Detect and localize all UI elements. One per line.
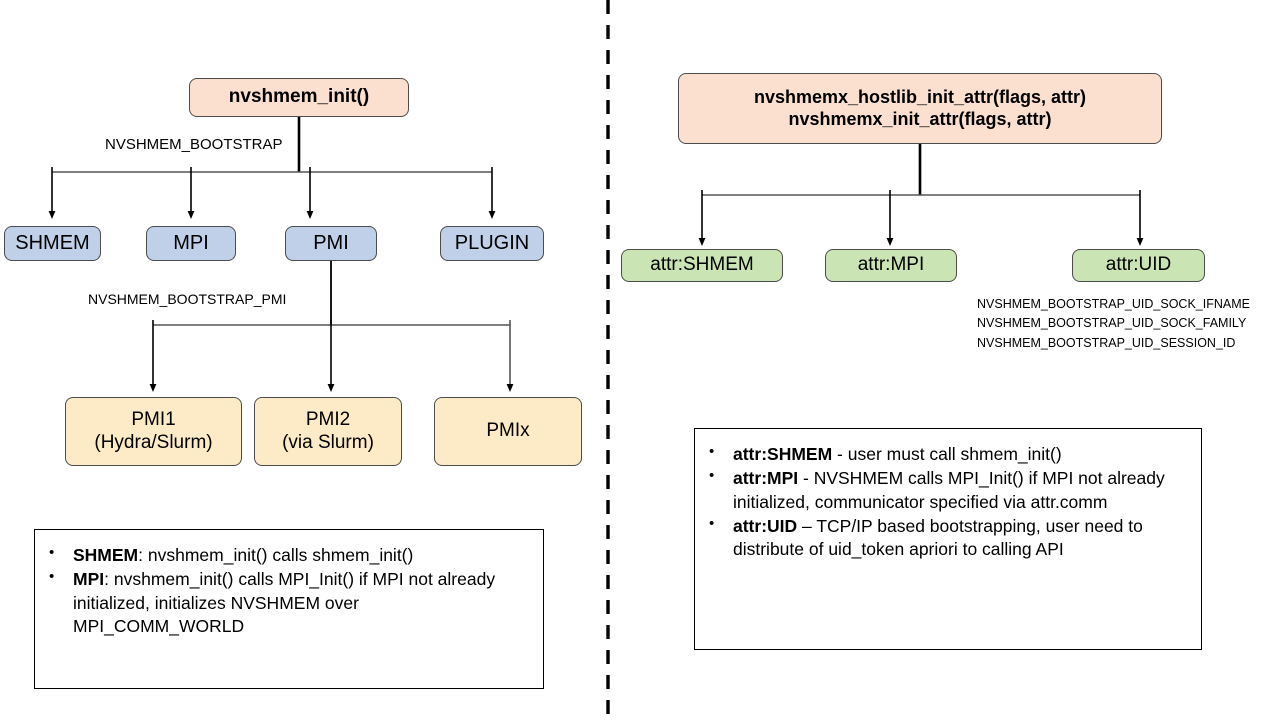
list-item: MPI: nvshmem_init() calls MPI_Init() if … xyxy=(35,568,533,638)
node-pmi1[interactable]: PMI1 (Hydra/Slurm) xyxy=(65,397,242,466)
node-attr-shmem[interactable]: attr:SHMEM xyxy=(621,249,783,282)
note-right-item-1-text: - NVSHMEM calls MPI_Init() if MPI not al… xyxy=(733,468,1165,511)
node-nvshmemx-init-attr-line2: nvshmemx_init_attr(flags, attr) xyxy=(788,109,1051,130)
note-right: attr:SHMEM - user must call shmem_init()… xyxy=(694,428,1202,650)
node-pmi2-sublabel: (via Slurm) xyxy=(282,432,374,454)
uid-env-var-list: NVSHMEM_BOOTSTRAP_UID_SOCK_IFNAME NVSHME… xyxy=(977,295,1250,353)
note-right-item-0-text: - user must call shmem_init() xyxy=(832,444,1062,464)
note-right-item-0-bold: attr:SHMEM xyxy=(733,444,832,464)
note-right-list: attr:SHMEM - user must call shmem_init()… xyxy=(695,443,1187,561)
node-bootstrap-mpi-label: MPI xyxy=(173,232,209,256)
node-pmix[interactable]: PMIx xyxy=(434,397,582,466)
node-nvshmem-init-label: nvshmem_init() xyxy=(229,86,369,108)
node-attr-shmem-label: attr:SHMEM xyxy=(650,254,753,276)
node-bootstrap-mpi[interactable]: MPI xyxy=(146,226,236,261)
note-right-item-1-bold: attr:MPI xyxy=(733,468,798,488)
uid-env-var-0: NVSHMEM_BOOTSTRAP_UID_SOCK_IFNAME xyxy=(977,295,1250,314)
note-right-item-2-bold: attr:UID xyxy=(733,516,797,536)
node-nvshmemx-init-attr[interactable]: nvshmemx_hostlib_init_attr(flags, attr) … xyxy=(678,73,1162,144)
node-bootstrap-pmi-label: PMI xyxy=(313,232,349,256)
note-left-item-0-bold: SHMEM xyxy=(73,545,138,565)
node-attr-mpi[interactable]: attr:MPI xyxy=(825,249,957,282)
note-left-list: SHMEM: nvshmem_init() calls shmem_init()… xyxy=(35,544,533,638)
diagram-canvas: nvshmem_init() NVSHMEM_BOOTSTRAP SHMEM M… xyxy=(0,0,1280,720)
list-item: attr:SHMEM - user must call shmem_init() xyxy=(695,443,1187,466)
node-nvshmemx-init-attr-line1: nvshmemx_hostlib_init_attr(flags, attr) xyxy=(754,87,1086,108)
node-attr-uid-label: attr:UID xyxy=(1106,254,1171,276)
node-pmi2-label: PMI2 xyxy=(306,409,350,431)
list-item: attr:MPI - NVSHMEM calls MPI_Init() if M… xyxy=(695,467,1187,514)
node-bootstrap-pmi[interactable]: PMI xyxy=(285,226,377,261)
left-bootstrap-drops xyxy=(52,167,492,215)
note-left-item-1-text: : nvshmem_init() calls MPI_Init() if MPI… xyxy=(73,569,495,636)
node-attr-uid[interactable]: attr:UID xyxy=(1072,249,1205,282)
node-pmix-label: PMIx xyxy=(486,420,529,442)
node-nvshmem-init[interactable]: nvshmem_init() xyxy=(189,78,409,117)
node-bootstrap-plugin-label: PLUGIN xyxy=(455,232,529,256)
node-attr-mpi-label: attr:MPI xyxy=(858,254,925,276)
note-left: SHMEM: nvshmem_init() calls shmem_init()… xyxy=(34,529,544,689)
pmi-drops xyxy=(153,320,510,388)
note-left-item-0-text: : nvshmem_init() calls shmem_init() xyxy=(138,545,413,565)
edge-label-nvshmem-bootstrap-pmi: NVSHMEM_BOOTSTRAP_PMI xyxy=(88,291,286,307)
uid-env-var-1: NVSHMEM_BOOTSTRAP_UID_SOCK_FAMILY xyxy=(977,314,1250,333)
node-bootstrap-plugin[interactable]: PLUGIN xyxy=(440,226,544,261)
node-pmi1-sublabel: (Hydra/Slurm) xyxy=(94,432,212,454)
note-left-item-1-bold: MPI xyxy=(73,569,104,589)
node-bootstrap-shmem[interactable]: SHMEM xyxy=(4,226,101,261)
list-item: SHMEM: nvshmem_init() calls shmem_init() xyxy=(35,544,533,567)
node-pmi1-label: PMI1 xyxy=(131,409,175,431)
node-pmi2[interactable]: PMI2 (via Slurm) xyxy=(254,397,402,466)
uid-env-var-2: NVSHMEM_BOOTSTRAP_UID_SESSION_ID xyxy=(977,334,1250,353)
node-bootstrap-shmem-label: SHMEM xyxy=(15,232,89,256)
right-attr-drops xyxy=(702,190,1140,242)
list-item: attr:UID – TCP/IP based bootstrapping, u… xyxy=(695,515,1187,562)
edge-label-nvshmem-bootstrap: NVSHMEM_BOOTSTRAP xyxy=(105,136,283,153)
